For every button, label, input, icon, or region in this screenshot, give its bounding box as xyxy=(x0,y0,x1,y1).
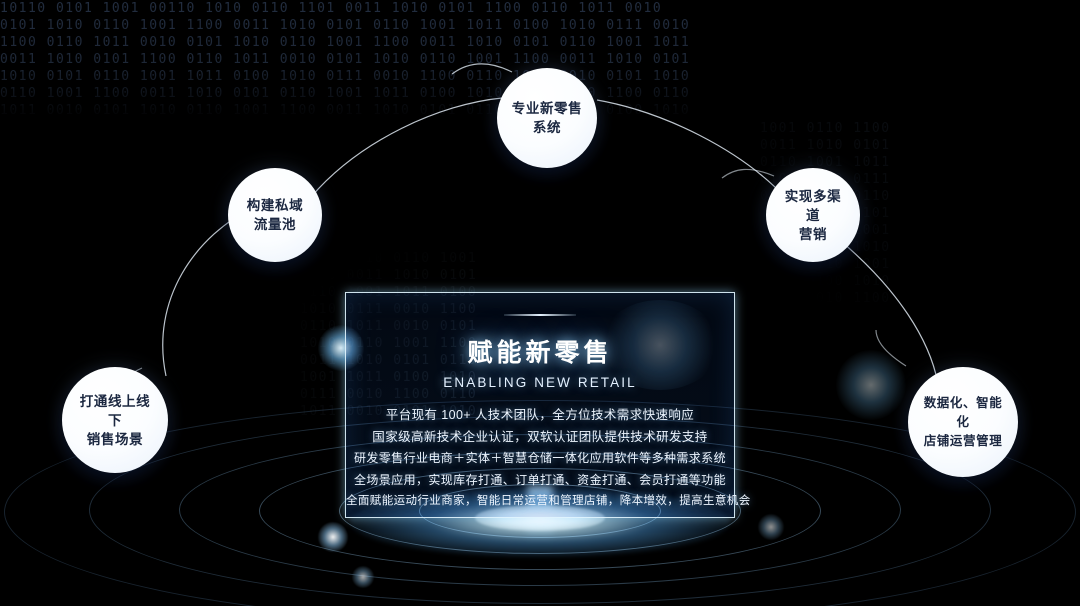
glow-dot-right xyxy=(836,350,906,420)
node-upper-left-line1: 构建私域 xyxy=(241,196,309,215)
node-upper-right-line1: 实现多渠道 xyxy=(772,187,854,225)
panel-body-line: 平台现有 100+ 人技术团队，全方位技术需求快速响应 xyxy=(346,405,734,427)
panel-title-cn: 赋能新零售 xyxy=(346,333,734,369)
node-lower-left-line1: 打通线上线下 xyxy=(68,392,162,430)
node-lower-right-line2: 店铺运营管理 xyxy=(914,432,1012,451)
panel-body: 平台现有 100+ 人技术团队，全方位技术需求快速响应 国家级高新技术企业认证，… xyxy=(346,405,734,513)
panel-body-line: 研发零售行业电商＋实体＋智慧仓储一体化应用软件等多种需求系统 xyxy=(346,448,734,470)
node-lower-left[interactable]: 打通线上线下 销售场景 xyxy=(62,367,168,473)
node-lower-right-label: 数据化、智能化 店铺运营管理 xyxy=(908,394,1018,451)
radar-spark xyxy=(318,522,348,552)
node-lower-left-line2: 销售场景 xyxy=(68,430,162,449)
title-divider xyxy=(504,314,576,316)
node-top[interactable]: 专业新零售 系统 xyxy=(497,68,597,168)
center-panel: 赋能新零售 ENABLING NEW RETAIL 平台现有 100+ 人技术团… xyxy=(345,292,735,518)
node-top-line1: 专业新零售 xyxy=(506,99,589,118)
node-upper-right[interactable]: 实现多渠道 营销 xyxy=(766,168,860,262)
radar-spark xyxy=(352,566,374,588)
panel-body-line: 全面赋能运动行业商家，智能日常运营和管理店铺，降本增效，提高生意机会 xyxy=(346,491,734,513)
node-lower-left-label: 打通线上线下 销售场景 xyxy=(62,392,168,449)
panel-body-line: 全场景应用，实现库存打通、订单打通、资金打通、会员打通等功能 xyxy=(346,470,734,492)
node-upper-left-label: 构建私域 流量池 xyxy=(235,196,315,234)
node-lower-right-line1: 数据化、智能化 xyxy=(914,394,1012,432)
node-lower-right[interactable]: 数据化、智能化 店铺运营管理 xyxy=(908,367,1018,477)
center-panel-content: 赋能新零售 ENABLING NEW RETAIL 平台现有 100+ 人技术团… xyxy=(346,293,734,513)
node-upper-right-line2: 营销 xyxy=(772,225,854,244)
panel-body-line: 国家级高新技术企业认证，双软认证团队提供技术研发支持 xyxy=(346,427,734,449)
node-top-label: 专业新零售 系统 xyxy=(500,99,595,137)
node-upper-left[interactable]: 构建私域 流量池 xyxy=(228,168,322,262)
radar-spark xyxy=(758,514,784,540)
panel-title-en: ENABLING NEW RETAIL xyxy=(346,375,734,390)
node-upper-right-label: 实现多渠道 营销 xyxy=(766,187,860,244)
node-top-line2: 系统 xyxy=(506,118,589,137)
node-upper-left-line2: 流量池 xyxy=(241,215,309,234)
slide-canvas: 10110 0101 1001 00110 1010 0110 1101 001… xyxy=(0,0,1080,606)
